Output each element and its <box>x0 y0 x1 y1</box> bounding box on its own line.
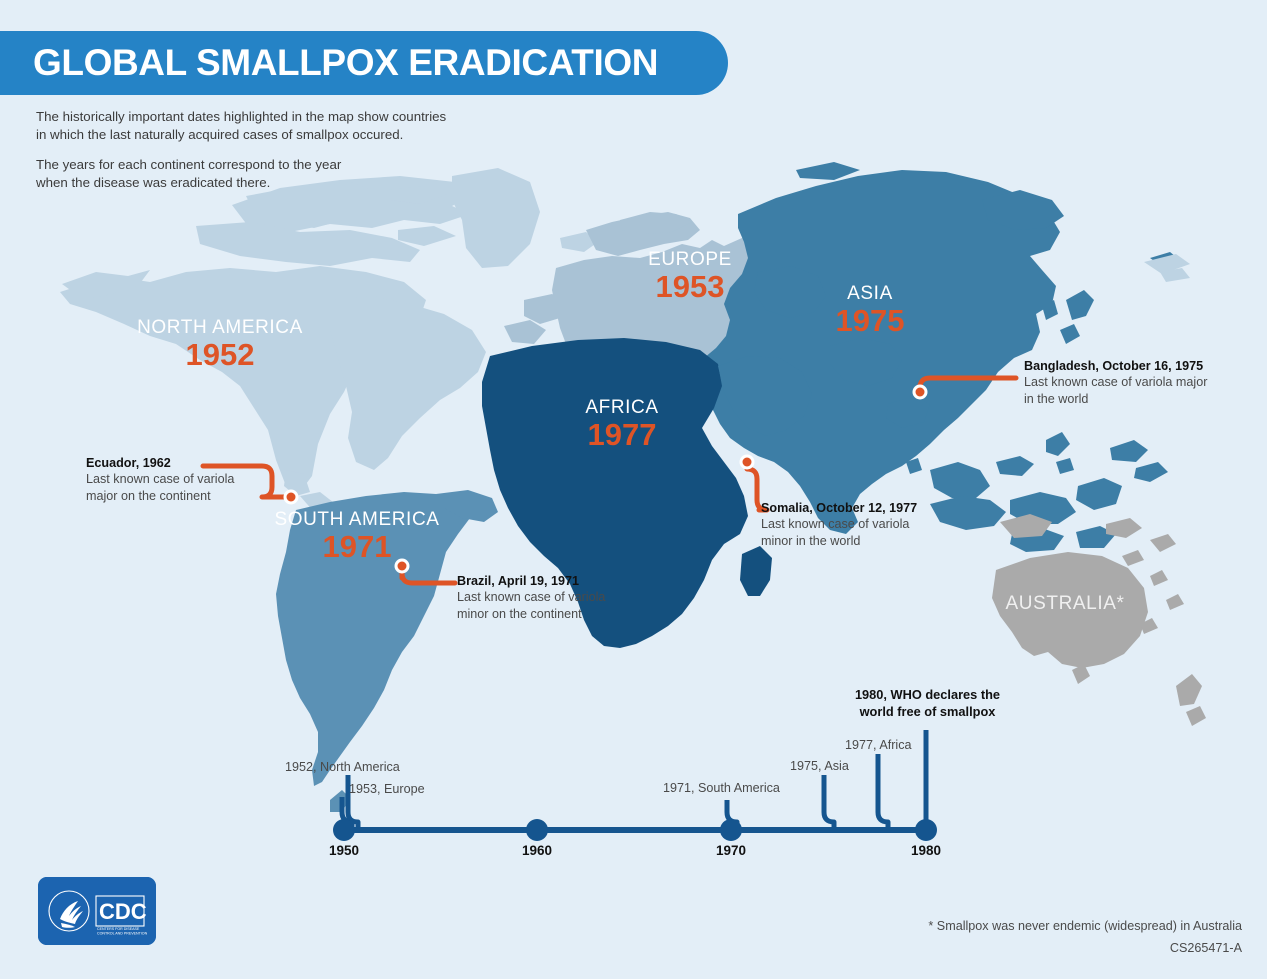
callout-line1-somalia: Last known case of variola <box>761 516 991 533</box>
callout-title-bangladesh: Bangladesh, October 16, 1975 <box>1024 358 1264 374</box>
cdc-logo: CDC CENTERS FOR DISEASE CONTROL AND PREV… <box>38 877 156 945</box>
timeline-node-1970 <box>720 819 742 841</box>
callout-title-somalia: Somalia, October 12, 1977 <box>761 500 991 516</box>
callout-line2-somalia: minor in the world <box>761 533 991 550</box>
timeline-1980-line2: world free of smallpox <box>860 704 996 719</box>
callout-brazil: Brazil, April 19, 1971 Last known case o… <box>457 573 677 622</box>
infographic-root: GLOBAL SMALLPOX ERADICATION The historic… <box>0 0 1267 979</box>
timeline-event-label-1977: 1977, Africa <box>845 738 912 752</box>
callout-somalia: Somalia, October 12, 1977 Last known cas… <box>761 500 991 549</box>
callout-line1-brazil: Last known case of variola <box>457 589 677 606</box>
timeline-event-label-1953: 1953, Europe <box>349 782 425 796</box>
timeline-axis-year-1960: 1960 <box>507 843 567 858</box>
timeline-axis-year-1950: 1950 <box>314 843 374 858</box>
intro-line-3: The years for each continent correspond … <box>36 157 341 172</box>
marker-dot-bangladesh <box>916 388 925 397</box>
svg-text:CONTROL AND PREVENTION: CONTROL AND PREVENTION <box>97 932 148 936</box>
timeline-node-1980 <box>915 819 937 841</box>
timeline-node-1960 <box>526 819 548 841</box>
intro-paragraph-1: The historically important dates highlig… <box>36 108 506 143</box>
callout-bangladesh: Bangladesh, October 16, 1975 Last known … <box>1024 358 1264 407</box>
callout-ecuador: Ecuador, 1962 Last known case of variola… <box>86 455 301 504</box>
timeline-node-1950 <box>333 819 355 841</box>
timeline-event-label-1975: 1975, Asia <box>790 759 849 773</box>
timeline-event-label-1952: 1952, North America <box>285 760 400 774</box>
callout-title-brazil: Brazil, April 19, 1971 <box>457 573 677 589</box>
callout-line2-brazil: minor on the continent <box>457 606 677 623</box>
callout-line1-bangladesh: Last known case of variola major <box>1024 374 1264 391</box>
footnote-australia: * Smallpox was never endemic (widespread… <box>928 919 1242 933</box>
cs-code: CS265471-A <box>1170 941 1242 955</box>
intro-paragraph-2: The years for each continent correspond … <box>36 156 506 191</box>
callout-line2-ecuador: major on the continent <box>86 488 301 505</box>
svg-text:CDC: CDC <box>99 899 147 924</box>
page-title: GLOBAL SMALLPOX ERADICATION <box>33 42 658 84</box>
timeline-event-label-1980: 1980, WHO declares the world free of sma… <box>820 686 1035 720</box>
timeline-event-label-1971: 1971, South America <box>663 781 780 795</box>
title-bar: GLOBAL SMALLPOX ERADICATION <box>0 31 728 95</box>
svg-text:CENTERS FOR DISEASE: CENTERS FOR DISEASE <box>97 927 140 931</box>
timeline-axis-year-1970: 1970 <box>701 843 761 858</box>
callout-line1-ecuador: Last known case of variola <box>86 471 301 488</box>
intro-line-2: in which the last naturally acquired cas… <box>36 127 403 142</box>
timeline-1980-line1: 1980, WHO declares the <box>855 687 1000 702</box>
marker-dot-somalia <box>743 458 752 467</box>
timeline-axis-year-1980: 1980 <box>896 843 956 858</box>
intro-line-1: The historically important dates highlig… <box>36 109 446 124</box>
marker-dot-brazil <box>398 562 407 571</box>
callout-title-ecuador: Ecuador, 1962 <box>86 455 301 471</box>
callout-line2-bangladesh: in the world <box>1024 391 1264 408</box>
intro-line-4: when the disease was eradicated there. <box>36 175 270 190</box>
